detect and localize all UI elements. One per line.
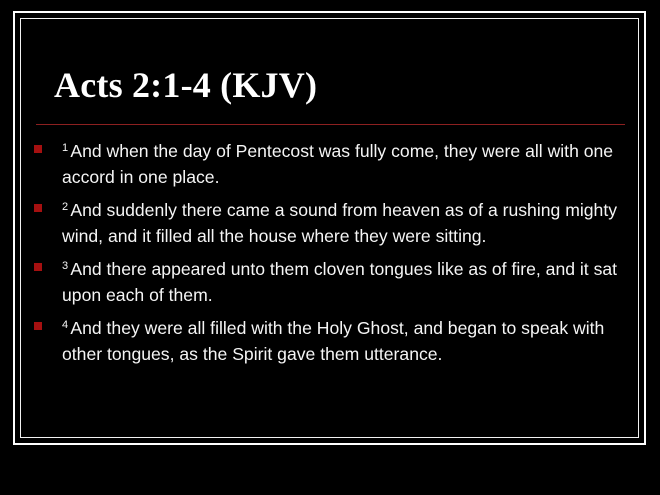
title-divider-rule: [36, 124, 625, 125]
square-bullet-icon: [34, 263, 42, 271]
title-block: Acts 2:1-4 (KJV): [54, 64, 614, 106]
bullet-item: 3And there appeared unto them cloven ton…: [28, 254, 632, 308]
bullet-item: 4And they were all filled with the Holy …: [28, 313, 632, 367]
verse-text: And suddenly there came a sound from hea…: [62, 200, 617, 246]
bullet-item: 1And when the day of Pentecost was fully…: [28, 136, 632, 190]
bullet-item: 2And suddenly there came a sound from he…: [28, 195, 632, 249]
slide-title: Acts 2:1-4 (KJV): [54, 64, 614, 106]
presentation-slide: Acts 2:1-4 (KJV) 1And when the day of Pe…: [0, 0, 660, 495]
square-bullet-icon: [34, 322, 42, 330]
verse-text: And there appeared unto them cloven tong…: [62, 259, 617, 305]
square-bullet-icon: [34, 145, 42, 153]
scripture-bullet-list: 1And when the day of Pentecost was fully…: [28, 136, 632, 372]
verse-text: And when the day of Pentecost was fully …: [62, 141, 613, 187]
verse-text: And they were all filled with the Holy G…: [62, 318, 604, 364]
slide-content-area: Acts 2:1-4 (KJV) 1And when the day of Pe…: [28, 26, 632, 430]
square-bullet-icon: [34, 204, 42, 212]
